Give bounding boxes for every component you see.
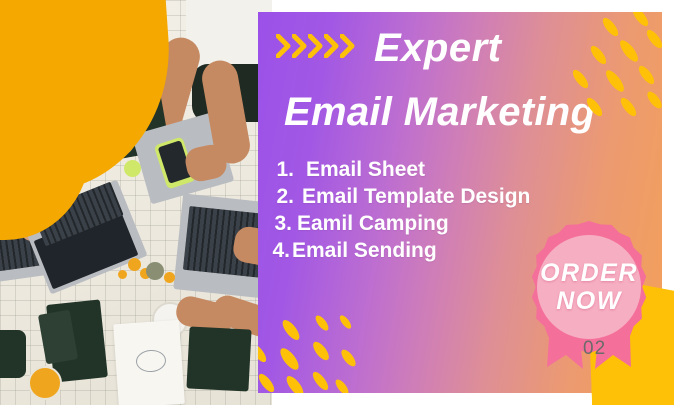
badge-number-label: 02 bbox=[583, 338, 606, 360]
chevron-right-icon bbox=[340, 34, 355, 58]
list-item-label: Email Sending bbox=[292, 237, 437, 264]
dash-decoration bbox=[333, 377, 350, 393]
dash-decoration bbox=[644, 28, 662, 51]
list-item-number: 2. bbox=[268, 183, 294, 210]
workspace-photo bbox=[0, 0, 272, 405]
dash-decoration bbox=[636, 64, 657, 87]
snack-dot-4 bbox=[164, 272, 175, 283]
dash-decoration bbox=[339, 347, 358, 368]
chevron-right-icon bbox=[308, 34, 323, 58]
small-tin bbox=[146, 262, 164, 280]
list-item-label: Email Template Design bbox=[302, 183, 530, 210]
snack-dot-3 bbox=[118, 270, 127, 279]
list-item: 1. Email Sheet bbox=[260, 156, 590, 183]
badge-text: ORDER NOW bbox=[521, 219, 657, 355]
dash-decoration bbox=[284, 373, 307, 393]
dash-decoration bbox=[310, 339, 331, 362]
marketing-banner: Expert Email Marketing 1. Email Sheet 2.… bbox=[0, 0, 674, 405]
dash-decoration bbox=[280, 317, 303, 342]
list-item-number: 1. bbox=[268, 156, 294, 183]
dash-decoration bbox=[258, 342, 269, 365]
juice-glass bbox=[28, 366, 62, 400]
notebook-right bbox=[186, 326, 251, 391]
dash-decoration bbox=[258, 372, 277, 393]
chevron-right-icon bbox=[324, 34, 339, 58]
list-item-number: 4. bbox=[264, 237, 290, 264]
list-item-label: Eamil Camping bbox=[297, 210, 449, 237]
badge-line-1: ORDER bbox=[540, 260, 638, 287]
dash-decoration bbox=[310, 370, 331, 393]
dash-decoration bbox=[618, 96, 639, 119]
list-item-label: Email Sheet bbox=[306, 156, 425, 183]
dash-decoration bbox=[617, 38, 641, 65]
badge-line-2: NOW bbox=[556, 288, 622, 315]
headline-line-2: Email Marketing bbox=[284, 90, 595, 135]
sticker-green bbox=[124, 160, 141, 177]
chevron-right-icon bbox=[292, 34, 307, 58]
dash-decoration bbox=[277, 345, 302, 372]
list-item: 2. Email Template Design bbox=[260, 183, 590, 210]
dash-decoration bbox=[603, 68, 627, 95]
dash-decoration bbox=[588, 44, 609, 67]
headline-line-1: Expert bbox=[374, 26, 502, 71]
dash-decoration bbox=[570, 68, 591, 91]
list-item-number: 3. bbox=[266, 210, 292, 237]
chevron-right-icon bbox=[276, 34, 291, 58]
dash-decoration bbox=[338, 314, 353, 331]
pouch-left bbox=[0, 330, 26, 378]
order-now-badge[interactable]: ORDER NOW bbox=[521, 219, 657, 394]
dash-decoration bbox=[313, 313, 330, 332]
dash-decoration bbox=[645, 89, 662, 110]
snack-dot-1 bbox=[128, 258, 141, 271]
chevron-row bbox=[276, 34, 355, 58]
dash-decoration bbox=[600, 16, 621, 39]
dash-decoration bbox=[630, 12, 651, 28]
